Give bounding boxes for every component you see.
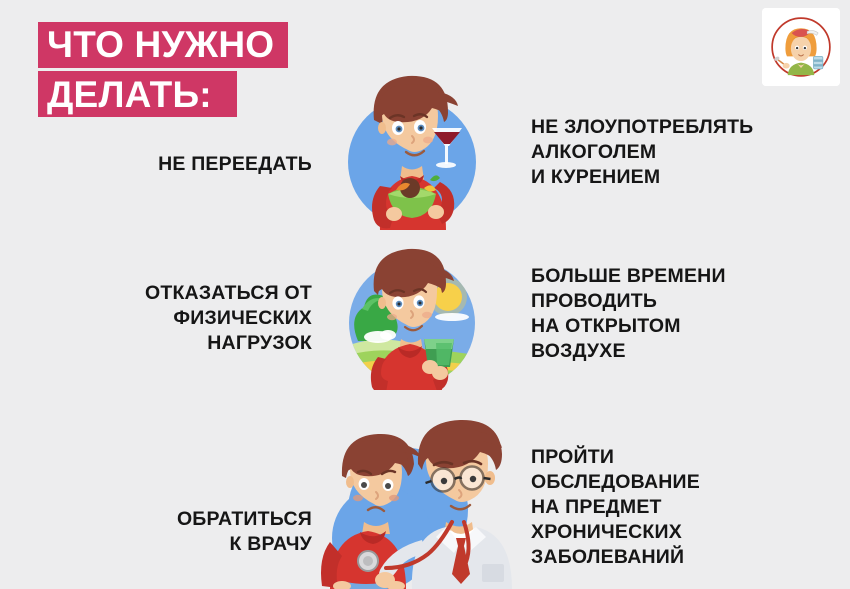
row-checkup-right-line-3: НА ПРЕДМЕТ [531, 495, 831, 520]
row-checkup-right-line-1: ПРОЙТИ [531, 445, 831, 470]
doctor-examining-patient-with-stethoscope [312, 418, 528, 589]
row-nutrition-right-line-3: И КУРЕНИЕМ [531, 165, 831, 190]
row-checkup-right-label: ПРОЙТИ ОБСЛЕДОВАНИЕ НА ПРЕДМЕТ ХРОНИЧЕСК… [531, 445, 831, 570]
row-outdoors-left-line-3: НАГРУЗОК [82, 331, 312, 356]
row-checkup-left-line-2: К ВРАЧУ [82, 532, 312, 557]
title-line-2: ДЕЛАТЬ: [47, 76, 212, 113]
infographic-canvas: ЧТО НУЖНО ДЕЛАТЬ: [0, 0, 850, 589]
row-outdoors-left-line-2: ФИЗИЧЕСКИХ [82, 306, 312, 331]
row-outdoors-right-line-4: ВОЗДУХЕ [531, 339, 831, 364]
row-outdoors-right-line-2: ПРОВОДИТЬ [531, 289, 831, 314]
row-nutrition-right-line-1: НЕ ЗЛОУПОТРЕБЛЯТЬ [531, 115, 831, 140]
row-nutrition-left-label: НЕ ПЕРЕЕДАТЬ [82, 152, 312, 177]
title-line-1: ЧТО НУЖНО [47, 26, 274, 63]
row-outdoors-right-label: БОЛЬШЕ ВРЕМЕНИ ПРОВОДИТЬ НА ОТКРЫТОМ ВОЗ… [531, 264, 831, 364]
woman-with-headache-logo [762, 8, 840, 86]
row-checkup-right-line-2: ОБСЛЕДОВАНИЕ [531, 470, 831, 495]
row-nutrition-right-line-2: АЛКОГОЛЕМ [531, 140, 831, 165]
row-outdoors-left-label: ОТКАЗАТЬСЯ ОТ ФИЗИЧЕСКИХ НАГРУЗОК [82, 281, 312, 356]
poster-title: ЧТО НУЖНО ДЕЛАТЬ: [0, 0, 360, 130]
row-checkup-left-label: ОБРАТИТЬСЯ К ВРАЧУ [82, 507, 312, 557]
man-outdoors-with-green-cup [348, 245, 480, 390]
row-outdoors-left-line-1: ОТКАЗАТЬСЯ ОТ [82, 281, 312, 306]
row-checkup-left-line-1: ОБРАТИТЬСЯ [82, 507, 312, 532]
row-outdoors-right-line-1: БОЛЬШЕ ВРЕМЕНИ [531, 264, 831, 289]
row-checkup-right-line-5: ЗАБОЛЕВАНИЙ [531, 545, 831, 570]
row-nutrition-left-line-1: НЕ ПЕРЕЕДАТЬ [82, 152, 312, 177]
man-with-salad-bowl-and-wine-glass [344, 62, 480, 230]
row-checkup-right-line-4: ХРОНИЧЕСКИХ [531, 520, 831, 545]
row-outdoors-right-line-3: НА ОТКРЫТОМ [531, 314, 831, 339]
row-nutrition-right-label: НЕ ЗЛОУПОТРЕБЛЯТЬ АЛКОГОЛЕМ И КУРЕНИЕМ [531, 115, 831, 190]
